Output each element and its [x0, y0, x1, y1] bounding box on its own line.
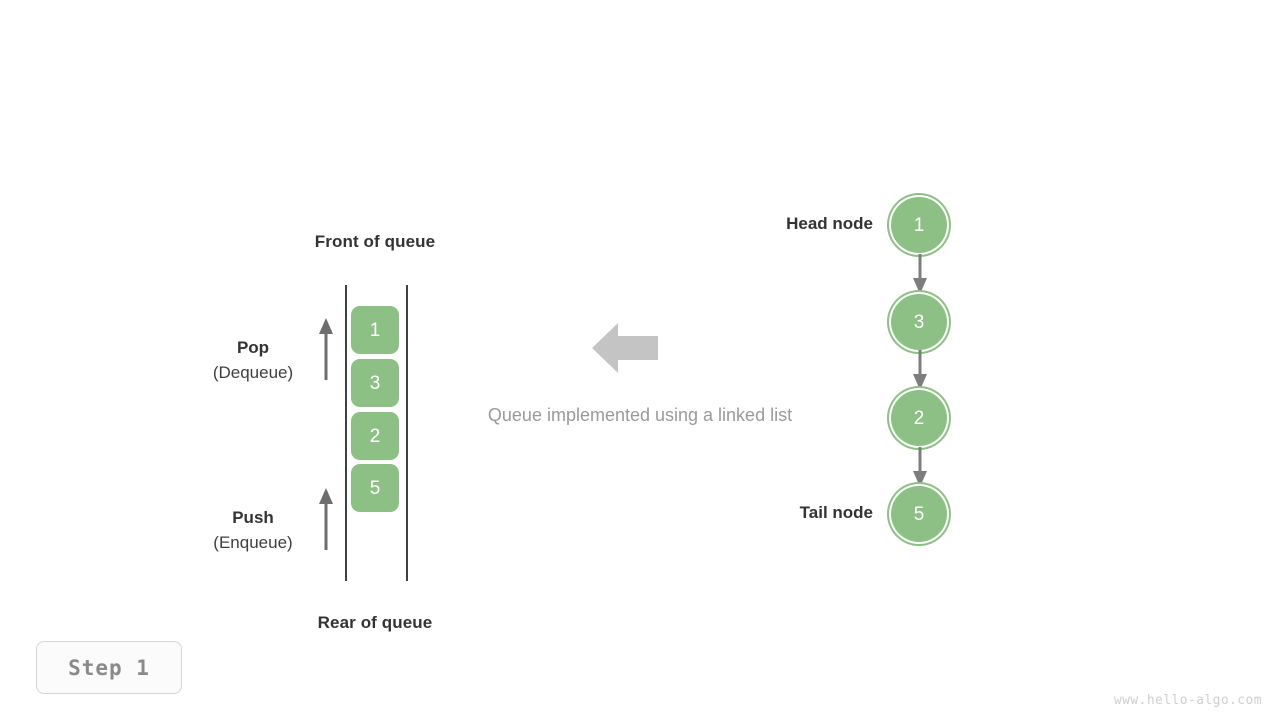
- list-node-value: 2: [914, 409, 925, 428]
- pop-operation-group: Pop (Dequeue): [168, 336, 338, 386]
- queue-cell: 1: [351, 306, 399, 354]
- queue-cell-value: 2: [370, 427, 381, 446]
- big-arrow-left-icon: [592, 320, 658, 376]
- rear-of-queue-label: Rear of queue: [275, 613, 475, 633]
- queue-cell: 5: [351, 464, 399, 512]
- pop-label: Pop: [168, 336, 338, 360]
- list-node: 5: [891, 486, 947, 542]
- arrow-down-icon: [908, 350, 932, 392]
- front-of-queue-label: Front of queue: [275, 232, 475, 252]
- list-node: 3: [891, 294, 947, 350]
- queue-rail-right: [406, 285, 408, 581]
- diagram-caption: Queue implemented using a linked list: [420, 405, 860, 426]
- queue-cell: 3: [351, 359, 399, 407]
- step-badge: Step 1: [36, 641, 182, 694]
- list-node-value: 1: [914, 216, 925, 235]
- list-node: 1: [891, 197, 947, 253]
- diagram-canvas: Front of queue 1 3 2 5 Pop (Dequeue) Pus…: [0, 0, 1280, 720]
- list-node: 2: [891, 390, 947, 446]
- arrow-down-icon: [908, 447, 932, 489]
- arrow-up-icon: [315, 486, 337, 550]
- push-operation-group: Push (Enqueue): [168, 506, 338, 556]
- enqueue-label: (Enqueue): [168, 530, 338, 556]
- arrow-down-icon: [908, 254, 932, 296]
- list-node-value: 3: [914, 313, 925, 332]
- queue-rail-left: [345, 285, 347, 581]
- dequeue-label: (Dequeue): [168, 360, 338, 386]
- tail-node-label: Tail node: [703, 503, 873, 523]
- watermark: www.hello-algo.com: [1114, 693, 1262, 708]
- queue-cell-value: 1: [370, 321, 381, 340]
- arrow-up-icon: [315, 316, 337, 380]
- queue-cell: 2: [351, 412, 399, 460]
- push-label: Push: [168, 506, 338, 530]
- queue-cell-value: 3: [370, 374, 381, 393]
- head-node-label: Head node: [703, 214, 873, 234]
- queue-cell-value: 5: [370, 479, 381, 498]
- list-node-value: 5: [914, 505, 925, 524]
